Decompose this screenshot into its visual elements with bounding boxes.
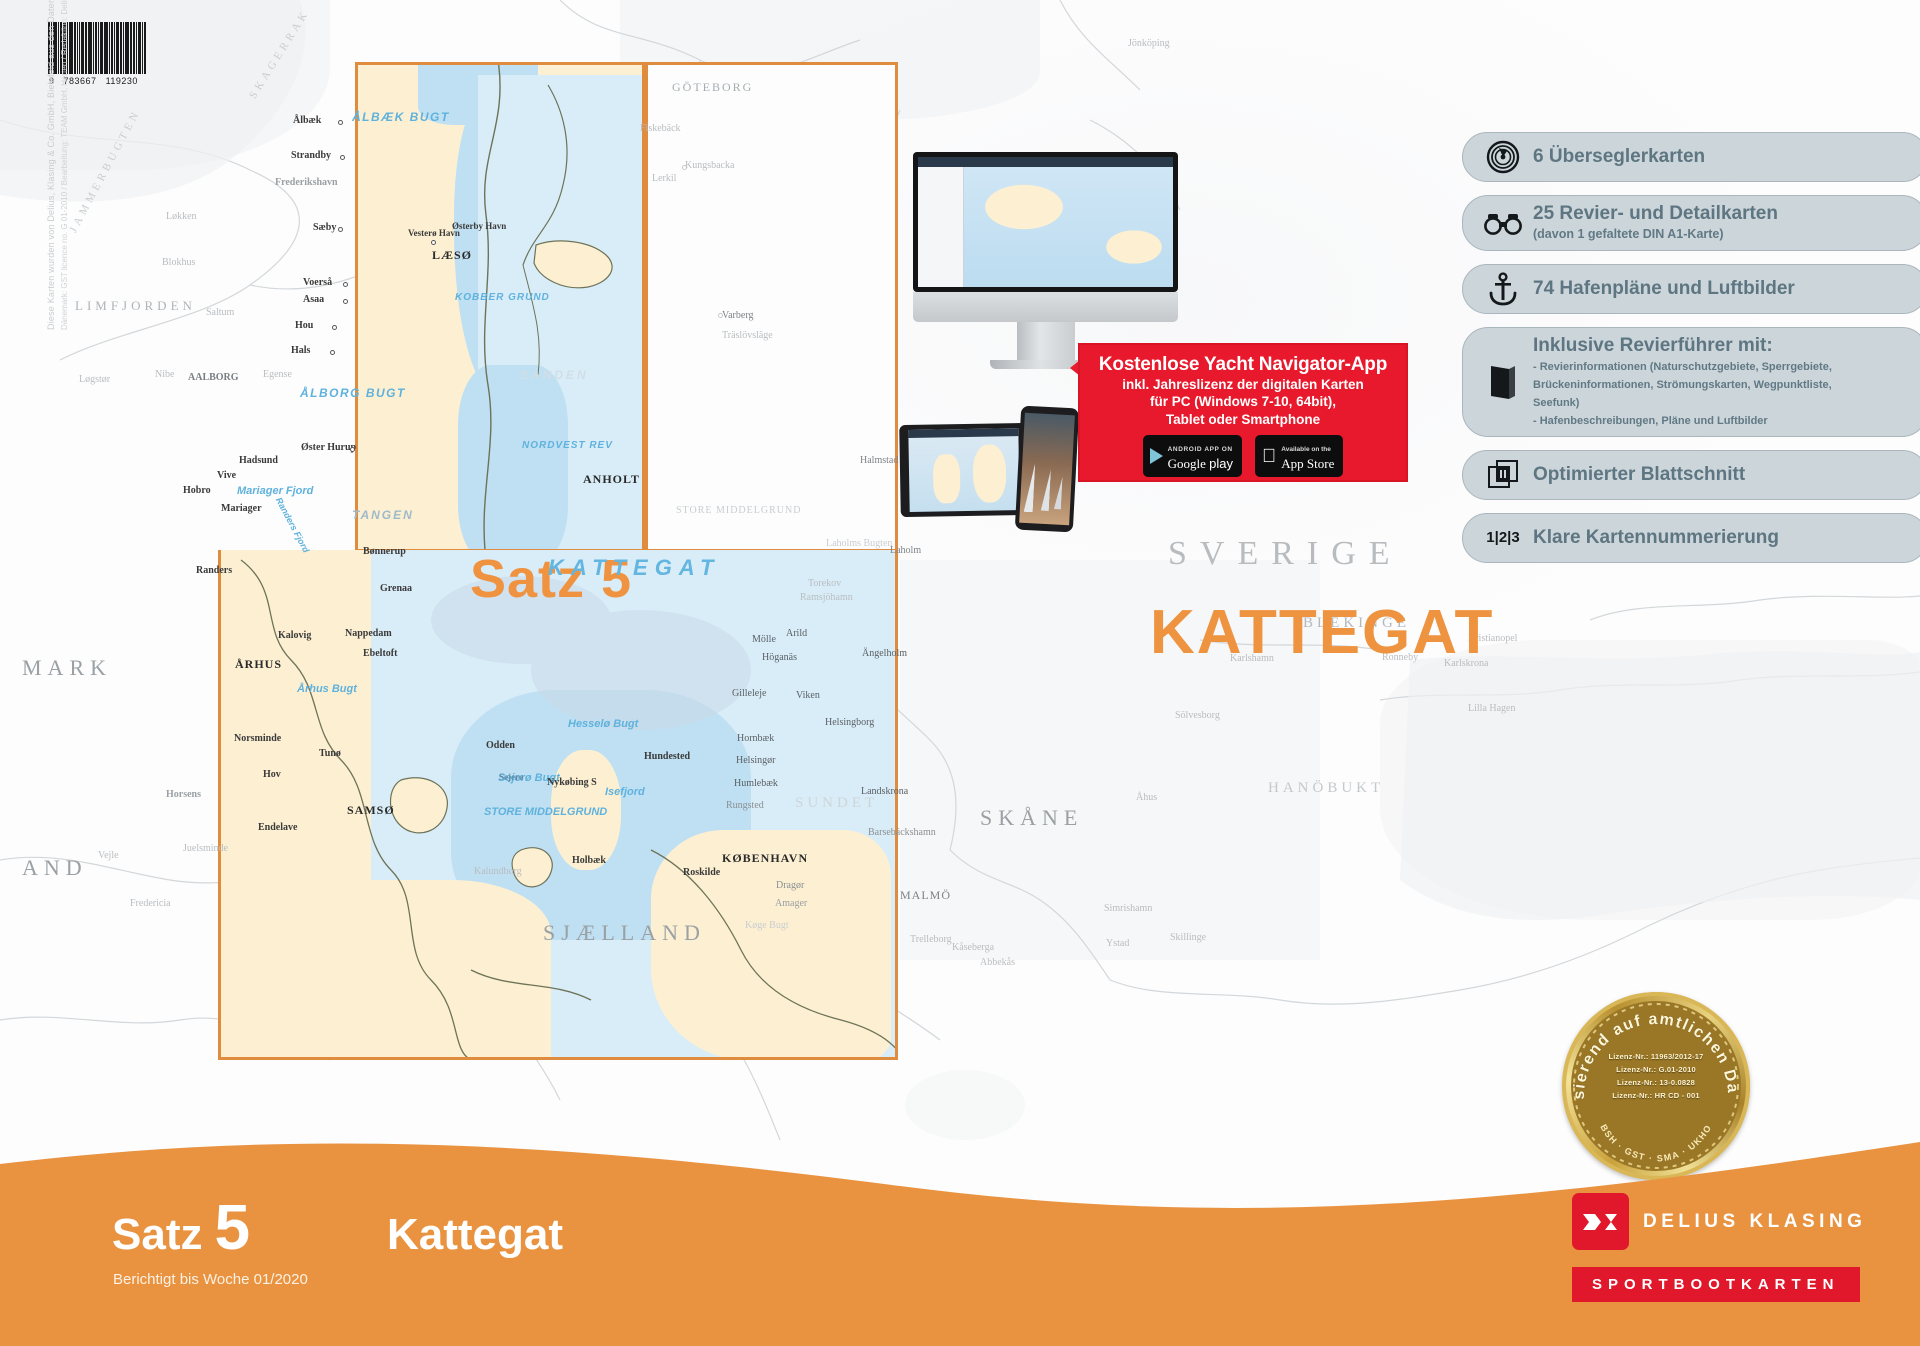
seal-license-lines: Lizenz-Nr.: 11963/2012-17 Lizenz-Nr.: G.…: [1562, 1050, 1750, 1103]
sportbootkarten-label: SPORTBOOTKARTEN: [1572, 1267, 1860, 1302]
feature-title: Optimierter Blattschnitt: [1533, 464, 1745, 485]
google-play-wordmark-2: play: [1209, 456, 1233, 471]
store-badges: ANDROID APP ON Google play  Available o…: [1080, 435, 1406, 477]
apple-icon: : [1262, 447, 1276, 466]
footer-correction-date: Berichtigt bis Woche 01/2020: [113, 1271, 308, 1288]
feature-item-overview-charts[interactable]: 6 Überseglerkarten: [1462, 132, 1920, 182]
delius-klasing-logo: DELIUS KLASING: [1572, 1193, 1866, 1250]
copyright-vertical-line-2: Dänemark: GST licence no. G 01-2010 / Be…: [60, 0, 69, 330]
sheet-cut-icon: [1479, 459, 1527, 491]
binoculars-icon: [1479, 211, 1527, 235]
seal-license-4: Lizenz-Nr.: HR CD - 001: [1562, 1089, 1750, 1102]
app-store-small-text: Available on the: [1281, 446, 1331, 453]
feature-subtitle: (davon 1 gefaltete DIN A1-Karte): [1533, 227, 1724, 241]
copyright-vertical-line-1: Diese Karten wurden von Delius, Klasing …: [46, 0, 56, 330]
numbering-icon: 1|2|3: [1479, 529, 1527, 546]
feature-item-detail-charts[interactable]: 25 Revier- und Detailkarten (davon 1 gef…: [1462, 195, 1920, 251]
feature-detail-2: Brückeninformationen, Strömungskarten, W…: [1533, 379, 1832, 391]
region-title: KATTEGAT: [1150, 597, 1494, 668]
footer-set-title: Satz 5: [112, 1200, 250, 1260]
feature-title: 6 Überseglerkarten: [1533, 146, 1705, 167]
svg-text:BSH · GST · SMA · UKHO: BSH · GST · SMA · UKHO: [1598, 1123, 1713, 1164]
feature-item-cruising-guide[interactable]: Inklusive Revierführer mit: - Revierinfo…: [1462, 327, 1920, 437]
promo-line-2: für PC (Windows 7-10, 64bit),: [1080, 394, 1406, 410]
footer-region-name: Kattegat: [387, 1210, 563, 1260]
country-label-sweden: SVERIGE: [1168, 535, 1403, 573]
feature-detail-1: - Revierinformationen (Naturschutzgebiet…: [1533, 361, 1832, 373]
anchor-icon: [1479, 272, 1527, 306]
seal-license-3: Lizenz-Nr.: 13-0.0828: [1562, 1076, 1750, 1089]
google-play-wordmark: Google: [1168, 456, 1206, 471]
imac-screen: [913, 152, 1178, 292]
feature-title: 74 Hafenpläne und Luftbilder: [1533, 278, 1795, 299]
compass-rose-icon: [1479, 140, 1527, 174]
imac-neck: [1017, 322, 1075, 360]
feature-item-chart-numbering[interactable]: 1|2|3 Klare Kartennummerierung: [1462, 513, 1920, 563]
footer-set-number: 5: [214, 1200, 250, 1254]
imac-mockup: [913, 152, 1178, 369]
app-store-badge[interactable]:  Available on the App Store: [1255, 435, 1343, 477]
smartphone-mockup: [1015, 406, 1079, 533]
feature-detail-4: - Hafenbeschreibungen, Pläne und Luftbil…: [1533, 415, 1768, 427]
poster-root: Satz 5 ÅLBÆK BUGT ÅLBORG BUGT KOBBER GRU…: [0, 0, 1920, 1346]
feature-item-sheet-layout[interactable]: Optimierter Blattschnitt: [1462, 450, 1920, 500]
promo-headline: Kostenlose Yacht Navigator-App: [1080, 354, 1406, 376]
feature-title: Klare Kartennummerierung: [1533, 527, 1779, 548]
isbn-group-2: 119230: [106, 76, 138, 86]
book-icon: [1479, 363, 1527, 401]
app-promo-box: Kostenlose Yacht Navigator-App inkl. Jah…: [1078, 343, 1408, 482]
feature-detail-3: Seefunk): [1533, 397, 1579, 409]
dk-logo-wordmark: DELIUS KLASING: [1643, 1211, 1866, 1233]
seal-license-2: Lizenz-Nr.: G.01-2010: [1562, 1063, 1750, 1076]
google-play-small-text: ANDROID APP ON: [1168, 446, 1233, 453]
google-play-badge[interactable]: ANDROID APP ON Google play: [1143, 435, 1242, 477]
feature-title: Inklusive Revierführer mit:: [1533, 335, 1773, 356]
feature-list: 6 Überseglerkarten 25 Revier- und Detail…: [1462, 132, 1920, 576]
tablet-mockup: [899, 423, 1029, 517]
official-data-seal: Basierend auf amtlichen Daten BSH · GST …: [1562, 992, 1750, 1180]
seal-license-1: Lizenz-Nr.: 11963/2012-17: [1562, 1050, 1750, 1063]
feature-title: 25 Revier- und Detailkarten: [1533, 203, 1778, 224]
app-store-wordmark: App Store: [1281, 456, 1334, 471]
google-play-icon: [1150, 448, 1163, 464]
dk-logo-mark-icon: [1572, 1193, 1629, 1250]
numbering-icon-text: 1|2|3: [1486, 529, 1519, 546]
footer-set-word: Satz: [112, 1210, 202, 1260]
promo-line-1: inkl. Jahreslizenz der digitalen Karten: [1080, 377, 1406, 393]
feature-item-harbour-plans[interactable]: 74 Hafenpläne und Luftbilder: [1462, 264, 1920, 314]
imac-chin: [913, 292, 1178, 322]
promo-line-3: Tablet oder Smartphone: [1080, 412, 1406, 428]
chart-inset-upper-right: [645, 62, 898, 552]
